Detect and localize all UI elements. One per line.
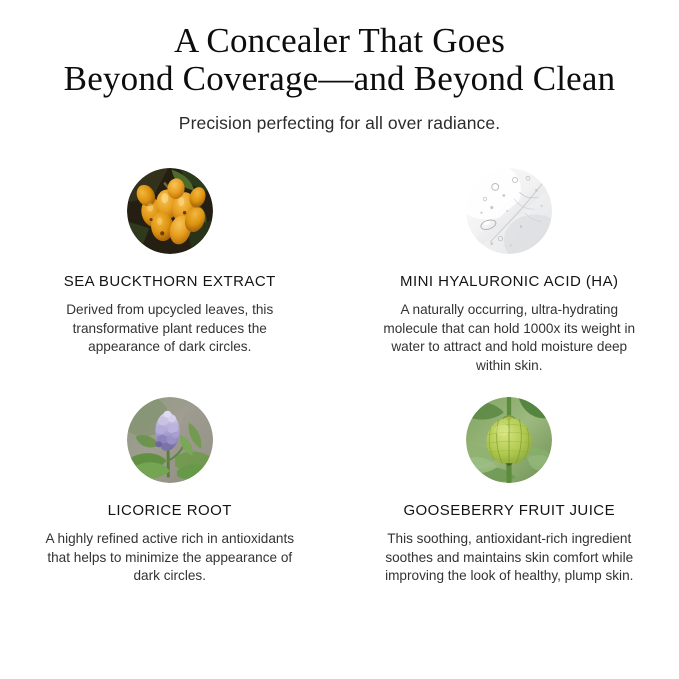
page-title: A Concealer That Goes Beyond Coverage—an… — [0, 22, 679, 98]
ingredient-name: SEA BUCKTHORN EXTRACT — [64, 273, 276, 291]
headline-line-1: A Concealer That Goes — [0, 22, 679, 60]
page-subtitle: Precision perfecting for all over radian… — [0, 112, 679, 134]
ingredient-card-licorice-root: LICORICE ROOT A highly refined active ri… — [0, 397, 340, 586]
sea-buckthorn-photo — [127, 168, 213, 254]
ingredient-card-gooseberry: GOOSEBERRY FRUIT JUICE This soothing, an… — [340, 397, 679, 586]
hyaluronic-acid-gel-photo — [466, 168, 552, 254]
ingredient-card-sea-buckthorn: SEA BUCKTHORN EXTRACT Derived from upcyc… — [0, 168, 340, 375]
ingredient-card-hyaluronic-acid: MINI HYALURONIC ACID (HA) A naturally oc… — [340, 168, 679, 375]
headline-line-2: Beyond Coverage—and Beyond Clean — [0, 60, 679, 98]
ingredient-name: MINI HYALURONIC ACID (HA) — [400, 273, 619, 291]
ingredient-infographic: A Concealer That Goes Beyond Coverage—an… — [0, 0, 679, 679]
header: A Concealer That Goes Beyond Coverage—an… — [0, 0, 679, 134]
ingredient-description: A naturally occurring, ultra-hydrating m… — [383, 301, 635, 375]
ingredient-description: This soothing, antioxidant-rich ingredie… — [383, 530, 635, 586]
ingredient-description: Derived from upcycled leaves, this trans… — [44, 301, 296, 357]
licorice-root-flower-photo — [127, 397, 213, 483]
ingredient-name: GOOSEBERRY FRUIT JUICE — [403, 502, 615, 520]
gooseberry-fruit-photo — [466, 397, 552, 483]
ingredient-name: LICORICE ROOT — [108, 502, 232, 520]
ingredient-grid: SEA BUCKTHORN EXTRACT Derived from upcyc… — [0, 168, 679, 586]
ingredient-description: A highly refined active rich in antioxid… — [44, 530, 296, 586]
